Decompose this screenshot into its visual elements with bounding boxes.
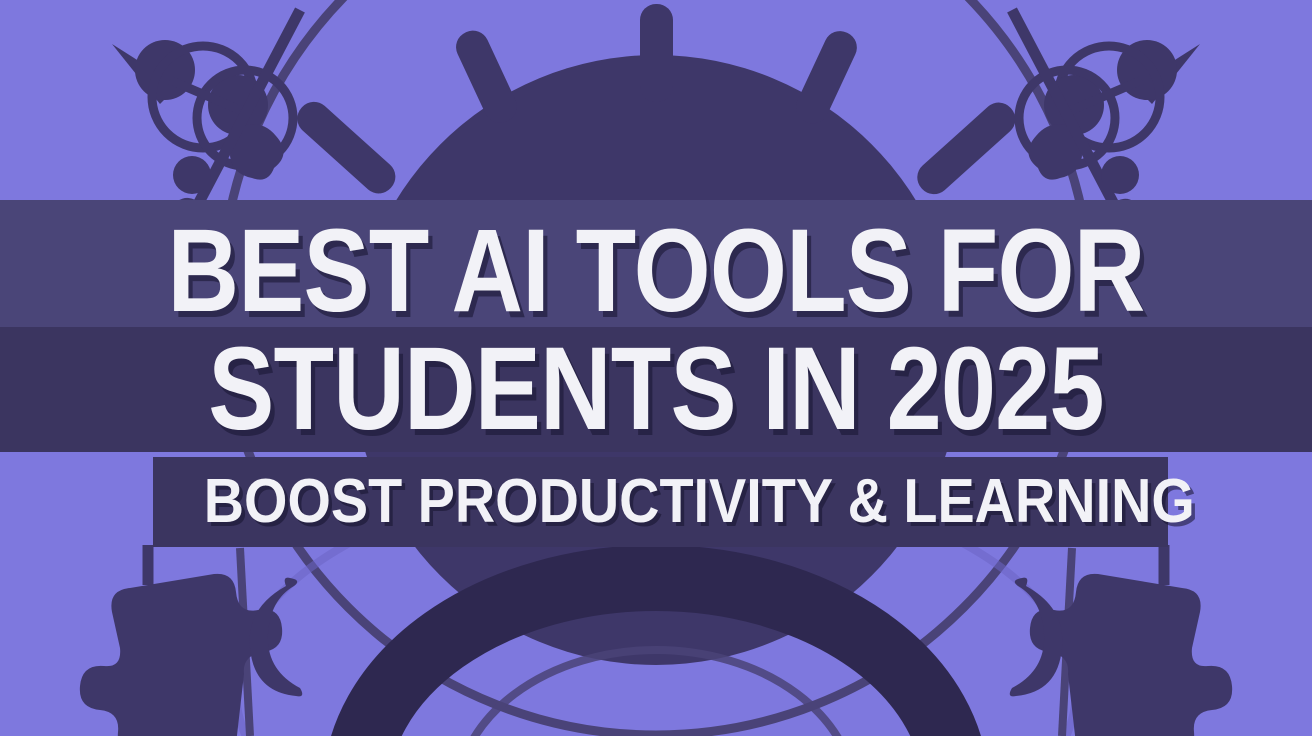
- title-line-1: BEST AI TOOLS FOR: [105, 212, 1207, 330]
- tick-mark-11: [451, 25, 522, 128]
- subtitle-text: BOOST PRODUCTIVITY & LEARNING: [204, 457, 1118, 547]
- node-dot-left-stem: [173, 156, 211, 194]
- tick-mark-10: [291, 95, 402, 200]
- node-dot-right-stem: [1101, 156, 1139, 194]
- thumbnail-banner: BEST AI TOOLS FOR STUDENTS IN 2025 BOOST…: [0, 0, 1312, 736]
- node-circle-cluster-left: [112, 10, 300, 210]
- title-line-2: STUDENTS IN 2025: [105, 330, 1207, 448]
- tick-mark-2: [911, 96, 1022, 201]
- tick-mark-1: [791, 26, 862, 129]
- title-block: BEST AI TOOLS FOR STUDENTS IN 2025: [0, 200, 1312, 452]
- node-circle-cluster-right: [1012, 10, 1200, 210]
- tick-mark-12: [640, 4, 673, 102]
